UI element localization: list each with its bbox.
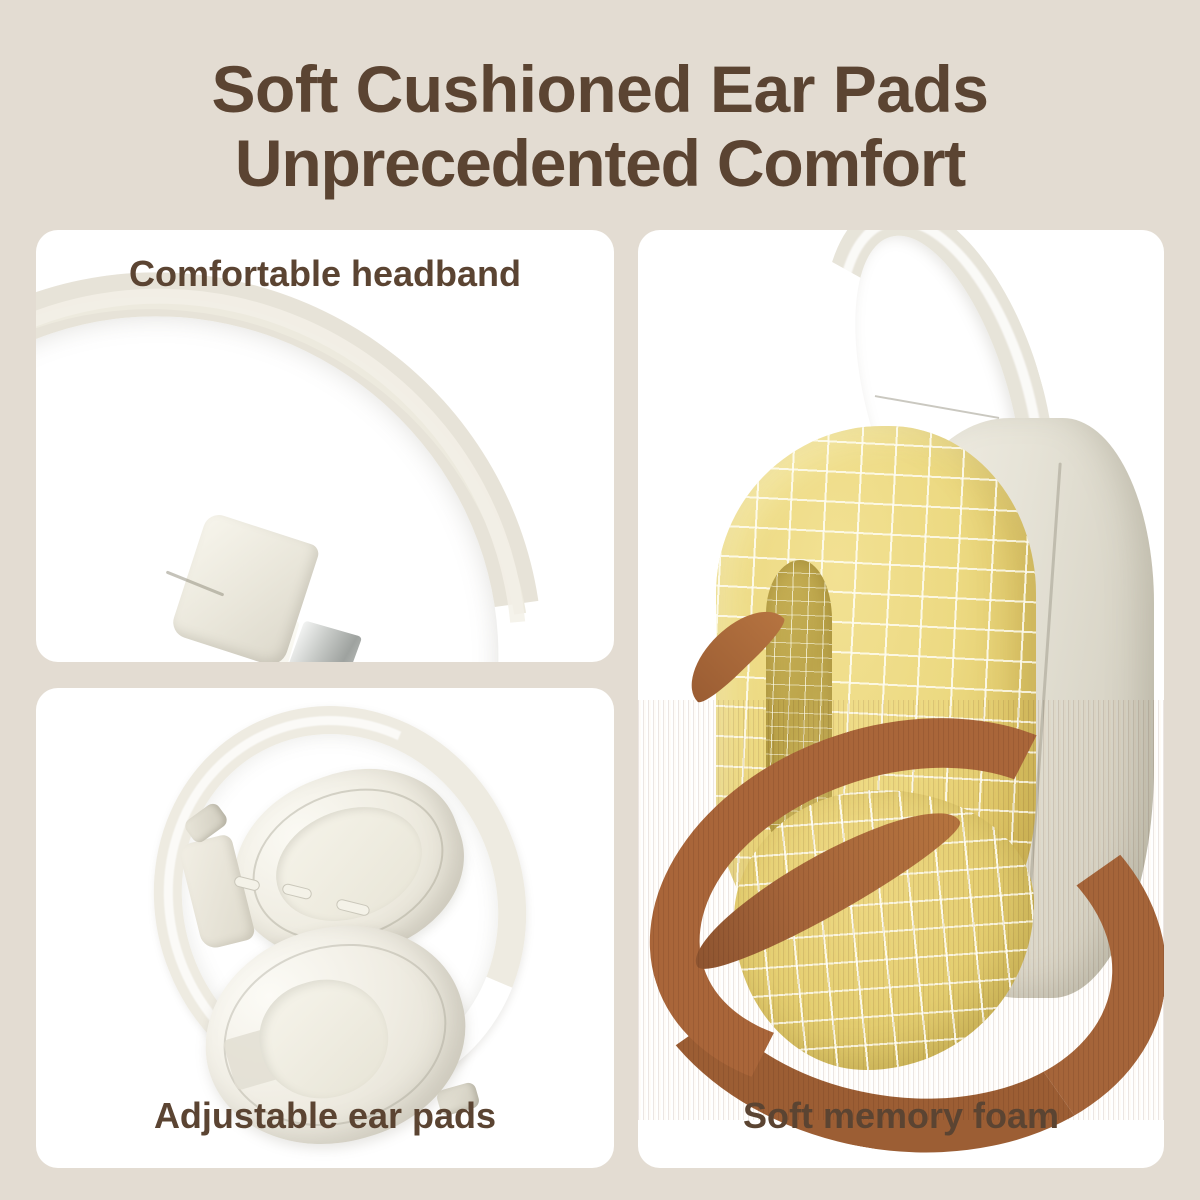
card-label-adjustable-ear-pads: Adjustable ear pads <box>36 1094 614 1138</box>
card-adjustable-ear-pads: Adjustable ear pads <box>36 688 614 1168</box>
page-title-line-1: Soft Cushioned Ear Pads <box>0 52 1200 126</box>
page-title-line-2: Unprecedented Comfort <box>0 126 1200 200</box>
page-title: Soft Cushioned Ear Pads Unprecedented Co… <box>0 52 1200 200</box>
card-comfortable-headband: Comfortable headband <box>36 230 614 662</box>
memory-foam-cutaway-illustration <box>638 230 1164 1168</box>
infographic-poster: Soft Cushioned Ear Pads Unprecedented Co… <box>0 0 1200 1200</box>
card-label-comfortable-headband: Comfortable headband <box>36 252 614 296</box>
card-soft-memory-foam: Soft memory foam <box>638 230 1164 1168</box>
card-label-soft-memory-foam: Soft memory foam <box>638 1094 1164 1138</box>
